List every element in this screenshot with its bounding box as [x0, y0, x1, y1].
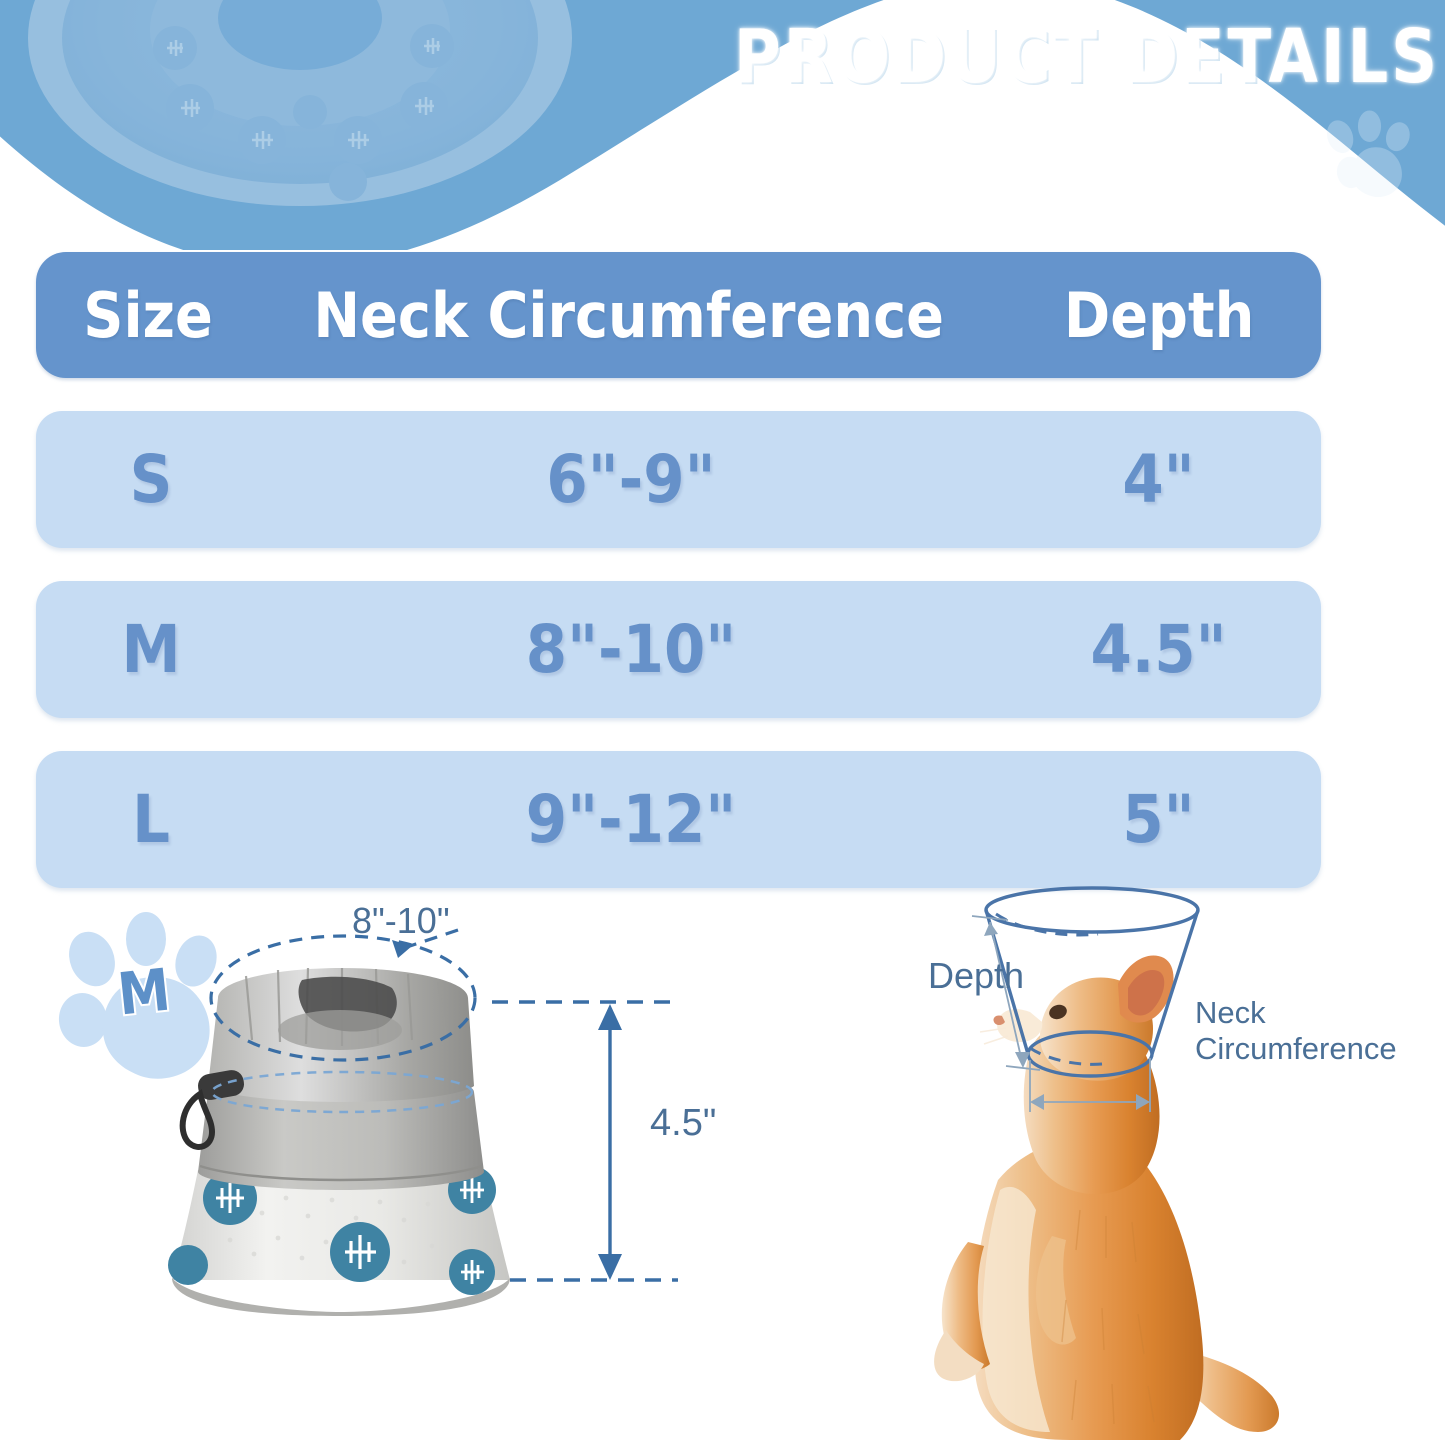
figure-left-collar-dimensions: M 8"-10" 4.5" — [40, 880, 800, 1440]
cell-neck: 8"-10" — [266, 611, 996, 688]
figure-right-cat-diagram: Depth Neck Circumference — [880, 880, 1445, 1445]
label-neck-dimension: 8"-10" — [352, 900, 450, 942]
table-row: L 9"-12" 5" — [36, 751, 1321, 888]
size-chart-table: Size Neck Circumference Depth S 6"-9" 4"… — [36, 252, 1321, 888]
table-row: M 8"-10" 4.5" — [36, 581, 1321, 718]
cell-size: M — [36, 611, 266, 688]
cell-size: S — [36, 441, 266, 518]
label-neck-line2: Circumference — [1195, 1031, 1397, 1066]
table-header-row: Size Neck Circumference Depth — [36, 252, 1321, 378]
cell-depth: 4" — [996, 441, 1321, 518]
cell-neck: 6"-9" — [266, 441, 996, 518]
size-badge-m: M — [115, 955, 174, 1028]
label-neck-circumference: Neck Circumference — [1195, 995, 1397, 1067]
cell-neck: 9"-12" — [266, 781, 996, 858]
header-banner: PRODUCT DETAILS — [0, 0, 1445, 250]
column-header-neck: Neck Circumference — [260, 279, 997, 352]
cell-depth: 5" — [996, 781, 1321, 858]
cell-size: L — [36, 781, 266, 858]
collar-product-image — [28, 0, 572, 206]
column-header-size: Size — [36, 279, 260, 352]
column-header-depth: Depth — [997, 279, 1321, 352]
page-title: PRODUCT DETAILS — [610, 9, 1440, 104]
label-neck-line1: Neck — [1195, 995, 1266, 1030]
cell-depth: 4.5" — [996, 611, 1321, 688]
label-depth: Depth — [928, 955, 1024, 997]
table-row: S 6"-9" 4" — [36, 411, 1321, 548]
label-depth-dimension: 4.5" — [650, 1102, 716, 1145]
